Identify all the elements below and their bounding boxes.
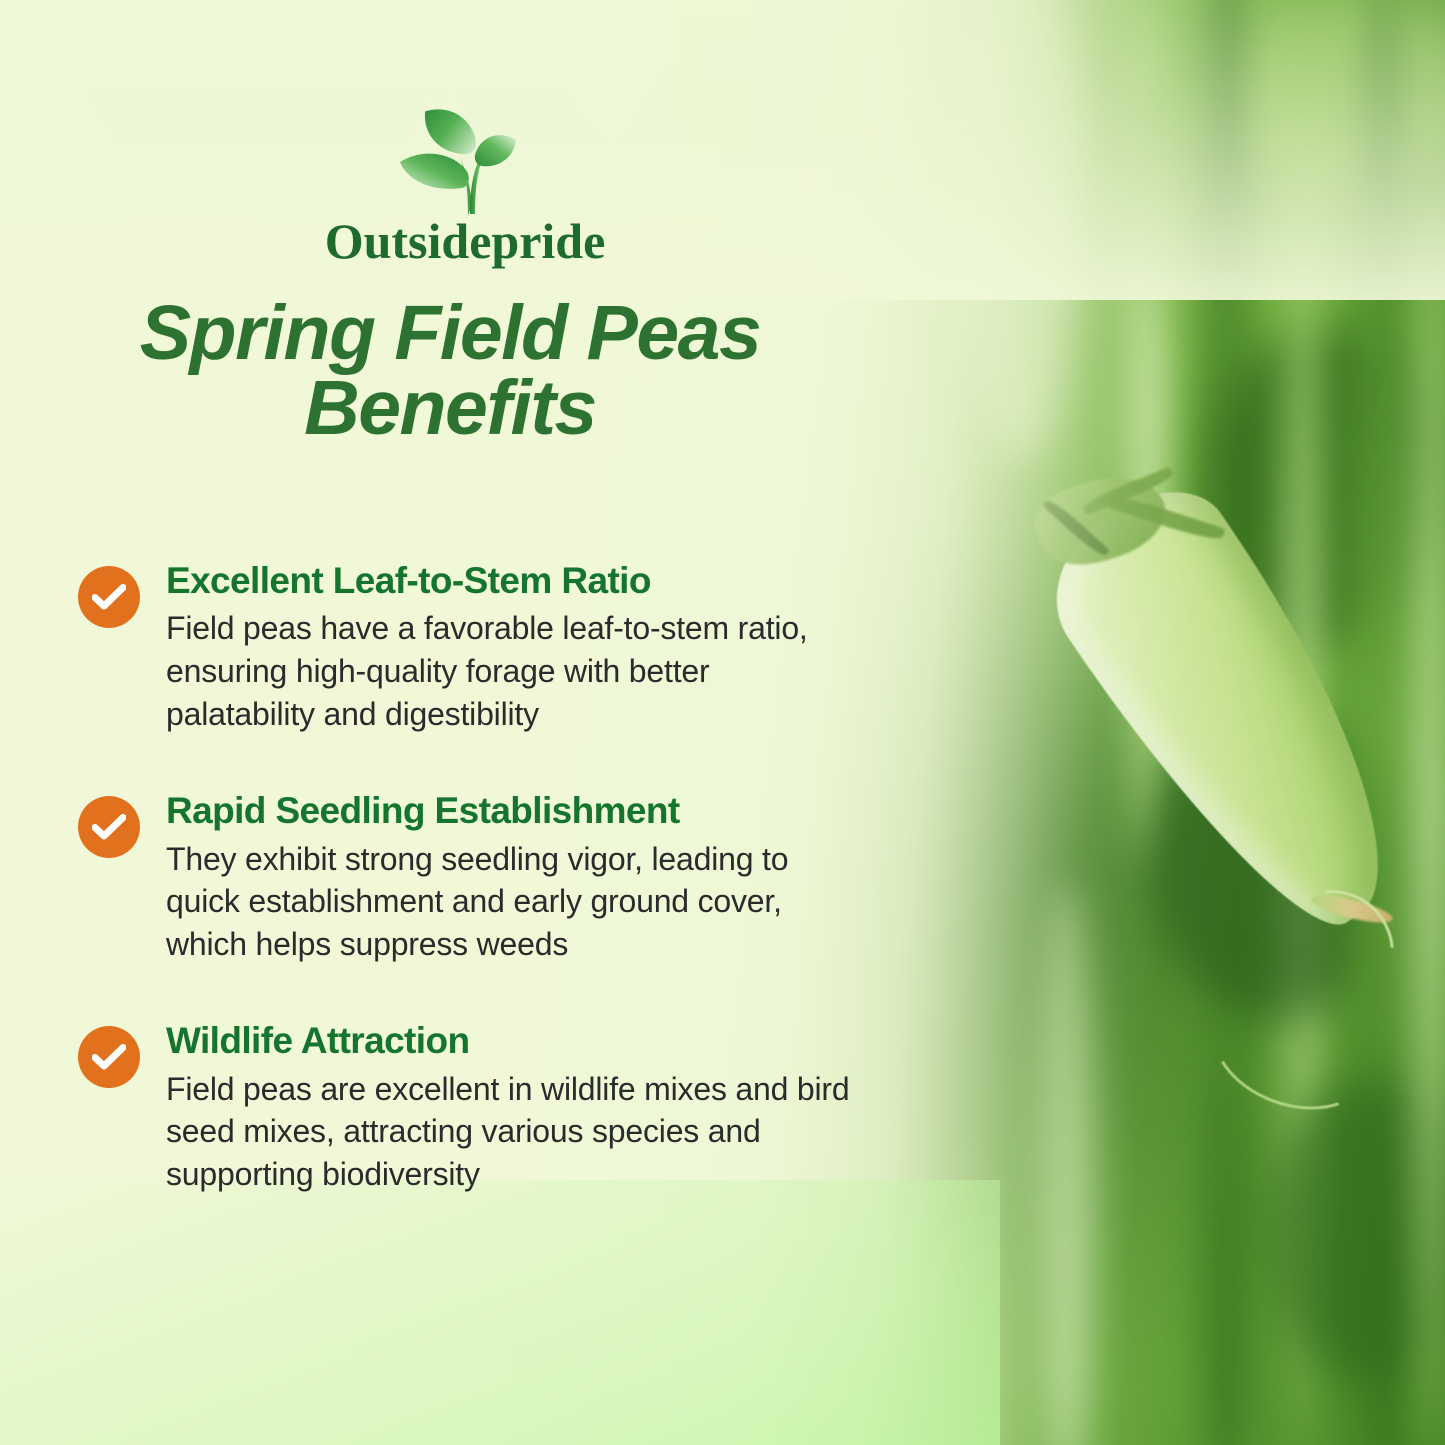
infographic-canvas: Outsidepride Spring Field Peas Benefits … <box>0 0 1445 1445</box>
page-title-line-1: Spring Field Peas <box>140 290 761 376</box>
check-circle-icon <box>78 796 140 858</box>
check-circle-icon <box>78 1026 140 1088</box>
page-title: Spring Field Peas Benefits <box>0 296 900 447</box>
benefit-title: Excellent Leaf-to-Stem Ratio <box>166 560 878 601</box>
page-title-line-2: Benefits <box>304 365 596 451</box>
benefit-description: They exhibit strong seedling vigor, lead… <box>166 838 866 966</box>
check-circle-icon <box>78 566 140 628</box>
benefit-title: Wildlife Attraction <box>166 1020 878 1061</box>
plant-sprout-icon <box>390 100 540 218</box>
brand-logo: Outsidepride <box>0 100 930 270</box>
brand-name: Outsidepride <box>0 212 930 270</box>
benefit-item: Rapid Seedling Establishment They exhibi… <box>78 790 878 965</box>
benefit-item: Wildlife Attraction Field peas are excel… <box>78 1020 878 1195</box>
content-layer: Outsidepride Spring Field Peas Benefits … <box>0 0 1445 1445</box>
benefit-description: Field peas have a favorable leaf-to-stem… <box>166 607 866 735</box>
benefits-list: Excellent Leaf-to-Stem Ratio Field peas … <box>78 560 878 1250</box>
benefit-title: Rapid Seedling Establishment <box>166 790 878 831</box>
benefit-description: Field peas are excellent in wildlife mix… <box>166 1068 866 1196</box>
benefit-item: Excellent Leaf-to-Stem Ratio Field peas … <box>78 560 878 735</box>
